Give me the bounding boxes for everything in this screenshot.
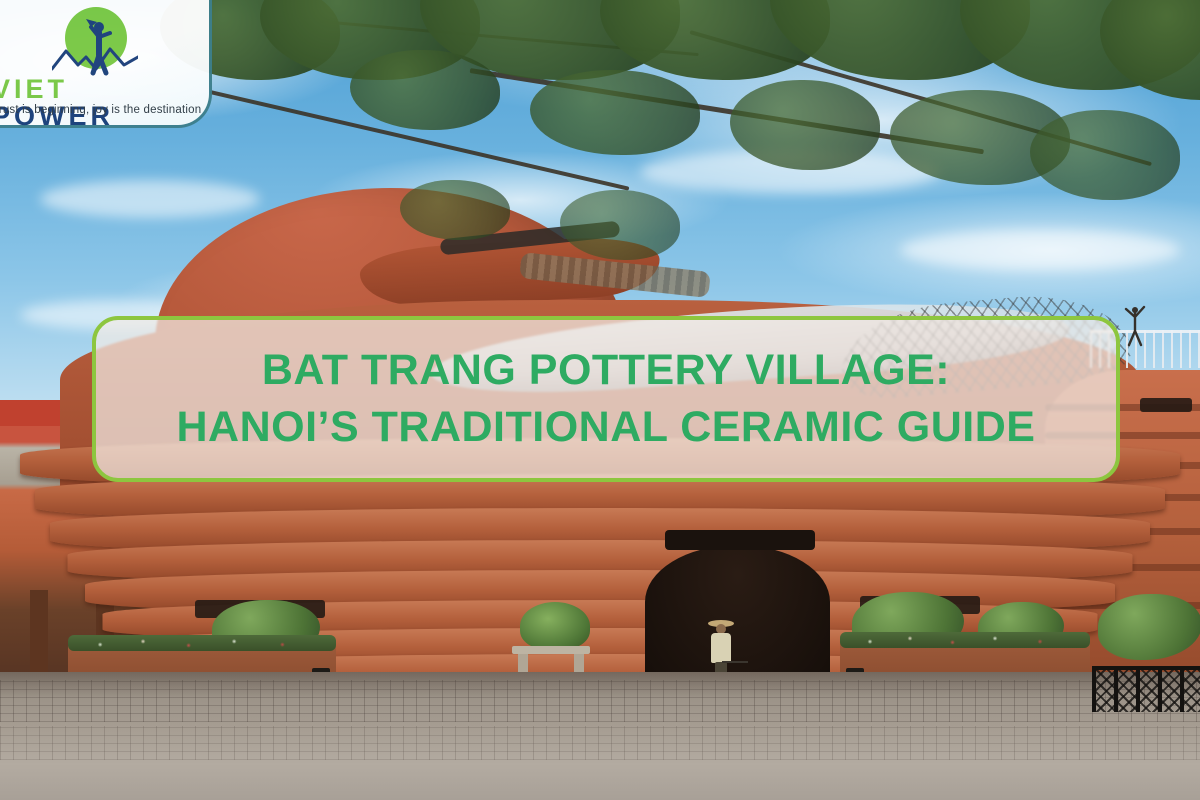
- title-banner: BAT TRANG POTTERY VILLAGE: HANOI’S TRADI…: [92, 316, 1120, 482]
- flower-bed: [68, 635, 336, 651]
- window-slot: [1140, 398, 1192, 412]
- rooftop-statue: [1124, 305, 1146, 347]
- brand-logo-card[interactable]: VIET POWER Trust is beginning, joy is th…: [0, 0, 212, 128]
- brick-paving: [0, 680, 1200, 722]
- entrance-clerestory: [665, 530, 815, 550]
- brand-tagline: Trust is beginning, joy is the destinati…: [0, 104, 202, 116]
- title-line-2: HANOI’S TRADITIONAL CERAMIC GUIDE: [177, 399, 1036, 456]
- iron-fence: [1092, 666, 1200, 712]
- brick-paving: [0, 726, 1200, 760]
- title-line-1: BAT TRANG POTTERY VILLAGE:: [262, 342, 950, 399]
- poster-canvas: BAT TRANG POTTERY VILLAGE: HANOI’S TRADI…: [0, 0, 1200, 800]
- viet-power-logo-icon: [52, 7, 138, 79]
- hiker-with-flag-icon: [86, 15, 112, 77]
- tree-canopy: [170, 0, 1200, 260]
- brand-wordmark: VIET POWER: [0, 76, 192, 130]
- brand-word-viet: VIET: [0, 74, 68, 104]
- flower-bed: [840, 632, 1090, 648]
- bonsai-tree: [520, 602, 590, 650]
